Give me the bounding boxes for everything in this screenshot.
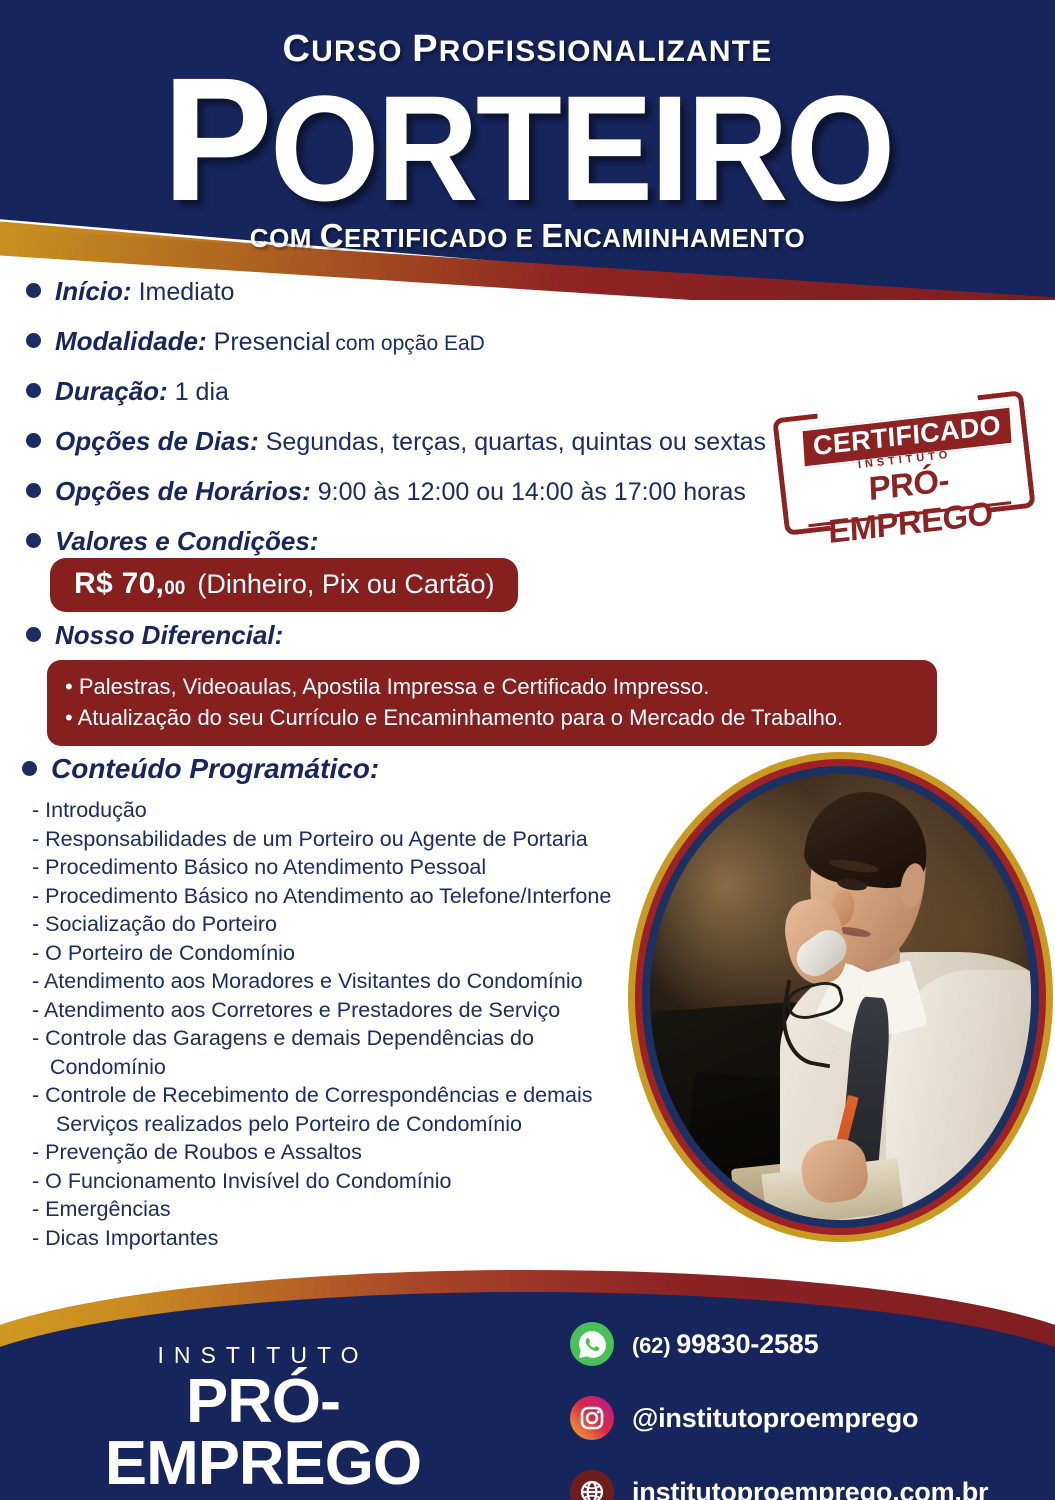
syllabus-item: - Procedimento Básico no Atendimento Pes… <box>32 853 672 882</box>
whatsapp-icon[interactable] <box>570 1322 614 1366</box>
info-row: Valores e Condições: <box>26 526 826 557</box>
info-label: Opções de Horários: <box>55 476 311 507</box>
instagram-icon[interactable] <box>570 1396 614 1440</box>
info-value: Segundas, terças, quartas, quintas ou se… <box>266 428 766 457</box>
info-row: Modalidade: Presencial com opção EaD <box>26 326 826 357</box>
contact-list: (62) 99830-2585 @institutoproemprego <box>570 1322 1040 1500</box>
price-amount: R$ 70, <box>74 567 164 600</box>
info-label: Opções de Dias: <box>55 426 259 457</box>
differential-box: • Palestras, Videoaulas, Apostila Impres… <box>47 660 937 746</box>
bullet-dot-icon <box>26 627 41 642</box>
price-cents: 00 <box>164 578 185 599</box>
info-label: Valores e Condições: <box>55 526 318 557</box>
info-value: Presencial <box>214 328 331 357</box>
differential-item: • Atualização do seu Currículo e Encamin… <box>65 702 919 733</box>
syllabus-item: - Dicas Importantes <box>32 1224 672 1253</box>
info-label: Duração: <box>55 376 168 407</box>
price-payment-methods: (Dinheiro, Pix ou Cartão) <box>197 569 494 599</box>
info-row: Opções de Dias: Segundas, terças, quarta… <box>26 426 826 457</box>
differential-item: • Palestras, Videoaulas, Apostila Impres… <box>65 671 919 702</box>
info-row: Duração: 1 dia <box>26 376 826 407</box>
price-badge: R$ 70,00(Dinheiro, Pix ou Cartão) <box>50 558 518 612</box>
info-value: Imediato <box>139 278 235 307</box>
bullet-dot-icon <box>26 283 41 298</box>
syllabus-item: - Atendimento aos Corretores e Prestador… <box>32 996 672 1025</box>
info-value: 1 dia <box>175 378 229 407</box>
bullet-dot-icon <box>26 483 41 498</box>
syllabus-heading-row: Conteúdo Programático: <box>22 753 386 785</box>
syllabus-item: - Introdução <box>32 796 672 825</box>
info-value: 9:00 às 12:00 ou 14:00 às 17:00 horas <box>318 478 746 507</box>
info-row: Opções de Horários: 9:00 às 12:00 ou 14:… <box>26 476 826 507</box>
syllabus-item: - Emergências <box>32 1195 672 1224</box>
logo-instituto-label: INSTITUTO <box>48 1342 478 1369</box>
poster-footer: INSTITUTO PRÓ-EMPREGO CURSOS PROFISSIONA… <box>0 1270 1055 1500</box>
syllabus-item: - O Funcionamento Invisível do Condomíni… <box>32 1167 672 1196</box>
contact-website-text: institutoproemprego.com.br <box>632 1477 988 1500</box>
syllabus-list: - Introdução- Responsabilidades de um Po… <box>32 796 672 1252</box>
poster: CURSO PROFISSIONALIZANTE PORTEIRO COM CE… <box>0 0 1055 1500</box>
poster-header: CURSO PROFISSIONALIZANTE PORTEIRO COM CE… <box>0 0 1055 300</box>
contact-whatsapp-text: (62) 99830-2585 <box>632 1329 818 1360</box>
syllabus-heading: Conteúdo Programático: <box>51 753 379 785</box>
bullet-dot-icon <box>26 333 41 348</box>
syllabus-item: - Responsabilidades de um Porteiro ou Ag… <box>32 825 672 854</box>
syllabus-item: - Atendimento aos Moradores e Visitantes… <box>32 967 672 996</box>
header-title-block: CURSO PROFISSIONALIZANTE PORTEIRO COM CE… <box>0 0 1055 255</box>
info-label: Modalidade: <box>55 326 207 357</box>
syllabus-item: - Procedimento Básico no Atendimento ao … <box>32 882 672 911</box>
info-value-extra: com opção EaD <box>335 332 484 356</box>
contact-instagram[interactable]: @institutoproemprego <box>570 1396 1040 1440</box>
bullet-dot-icon <box>26 383 41 398</box>
porteiro-photo <box>628 752 1053 1242</box>
bullet-dot-icon <box>26 433 41 448</box>
syllabus-item: - Prevenção de Roubos e Assaltos <box>32 1138 672 1167</box>
differential-heading: Nosso Diferencial: <box>55 620 283 651</box>
differential-heading-row: Nosso Diferencial: <box>26 620 290 651</box>
info-label: Início: <box>55 276 132 307</box>
brand-logo: INSTITUTO PRÓ-EMPREGO CURSOS PROFISSIONA… <box>48 1342 478 1500</box>
syllabus-item: - Controle das Garagens e demais Dependê… <box>32 1024 672 1081</box>
syllabus-item: - Controle de Recebimento de Correspondê… <box>32 1081 672 1138</box>
contact-website[interactable]: institutoproemprego.com.br <box>570 1470 1040 1500</box>
contact-whatsapp[interactable]: (62) 99830-2585 <box>570 1322 1040 1366</box>
bullet-dot-icon <box>26 533 41 548</box>
globe-icon[interactable] <box>570 1470 614 1500</box>
course-title: PORTEIRO <box>32 65 1024 223</box>
bullet-dot-icon <box>22 761 37 776</box>
syllabus-item: - O Porteiro de Condomínio <box>32 939 672 968</box>
course-info-list: Início: Imediato Modalidade: Presencial … <box>26 276 826 576</box>
photo-image <box>650 774 1031 1220</box>
contact-instagram-text: @institutoproemprego <box>632 1403 918 1434</box>
logo-main-label: PRÓ-EMPREGO <box>44 1371 483 1495</box>
syllabus-item: - Socialização do Porteiro <box>32 910 672 939</box>
info-row: Início: Imediato <box>26 276 826 307</box>
